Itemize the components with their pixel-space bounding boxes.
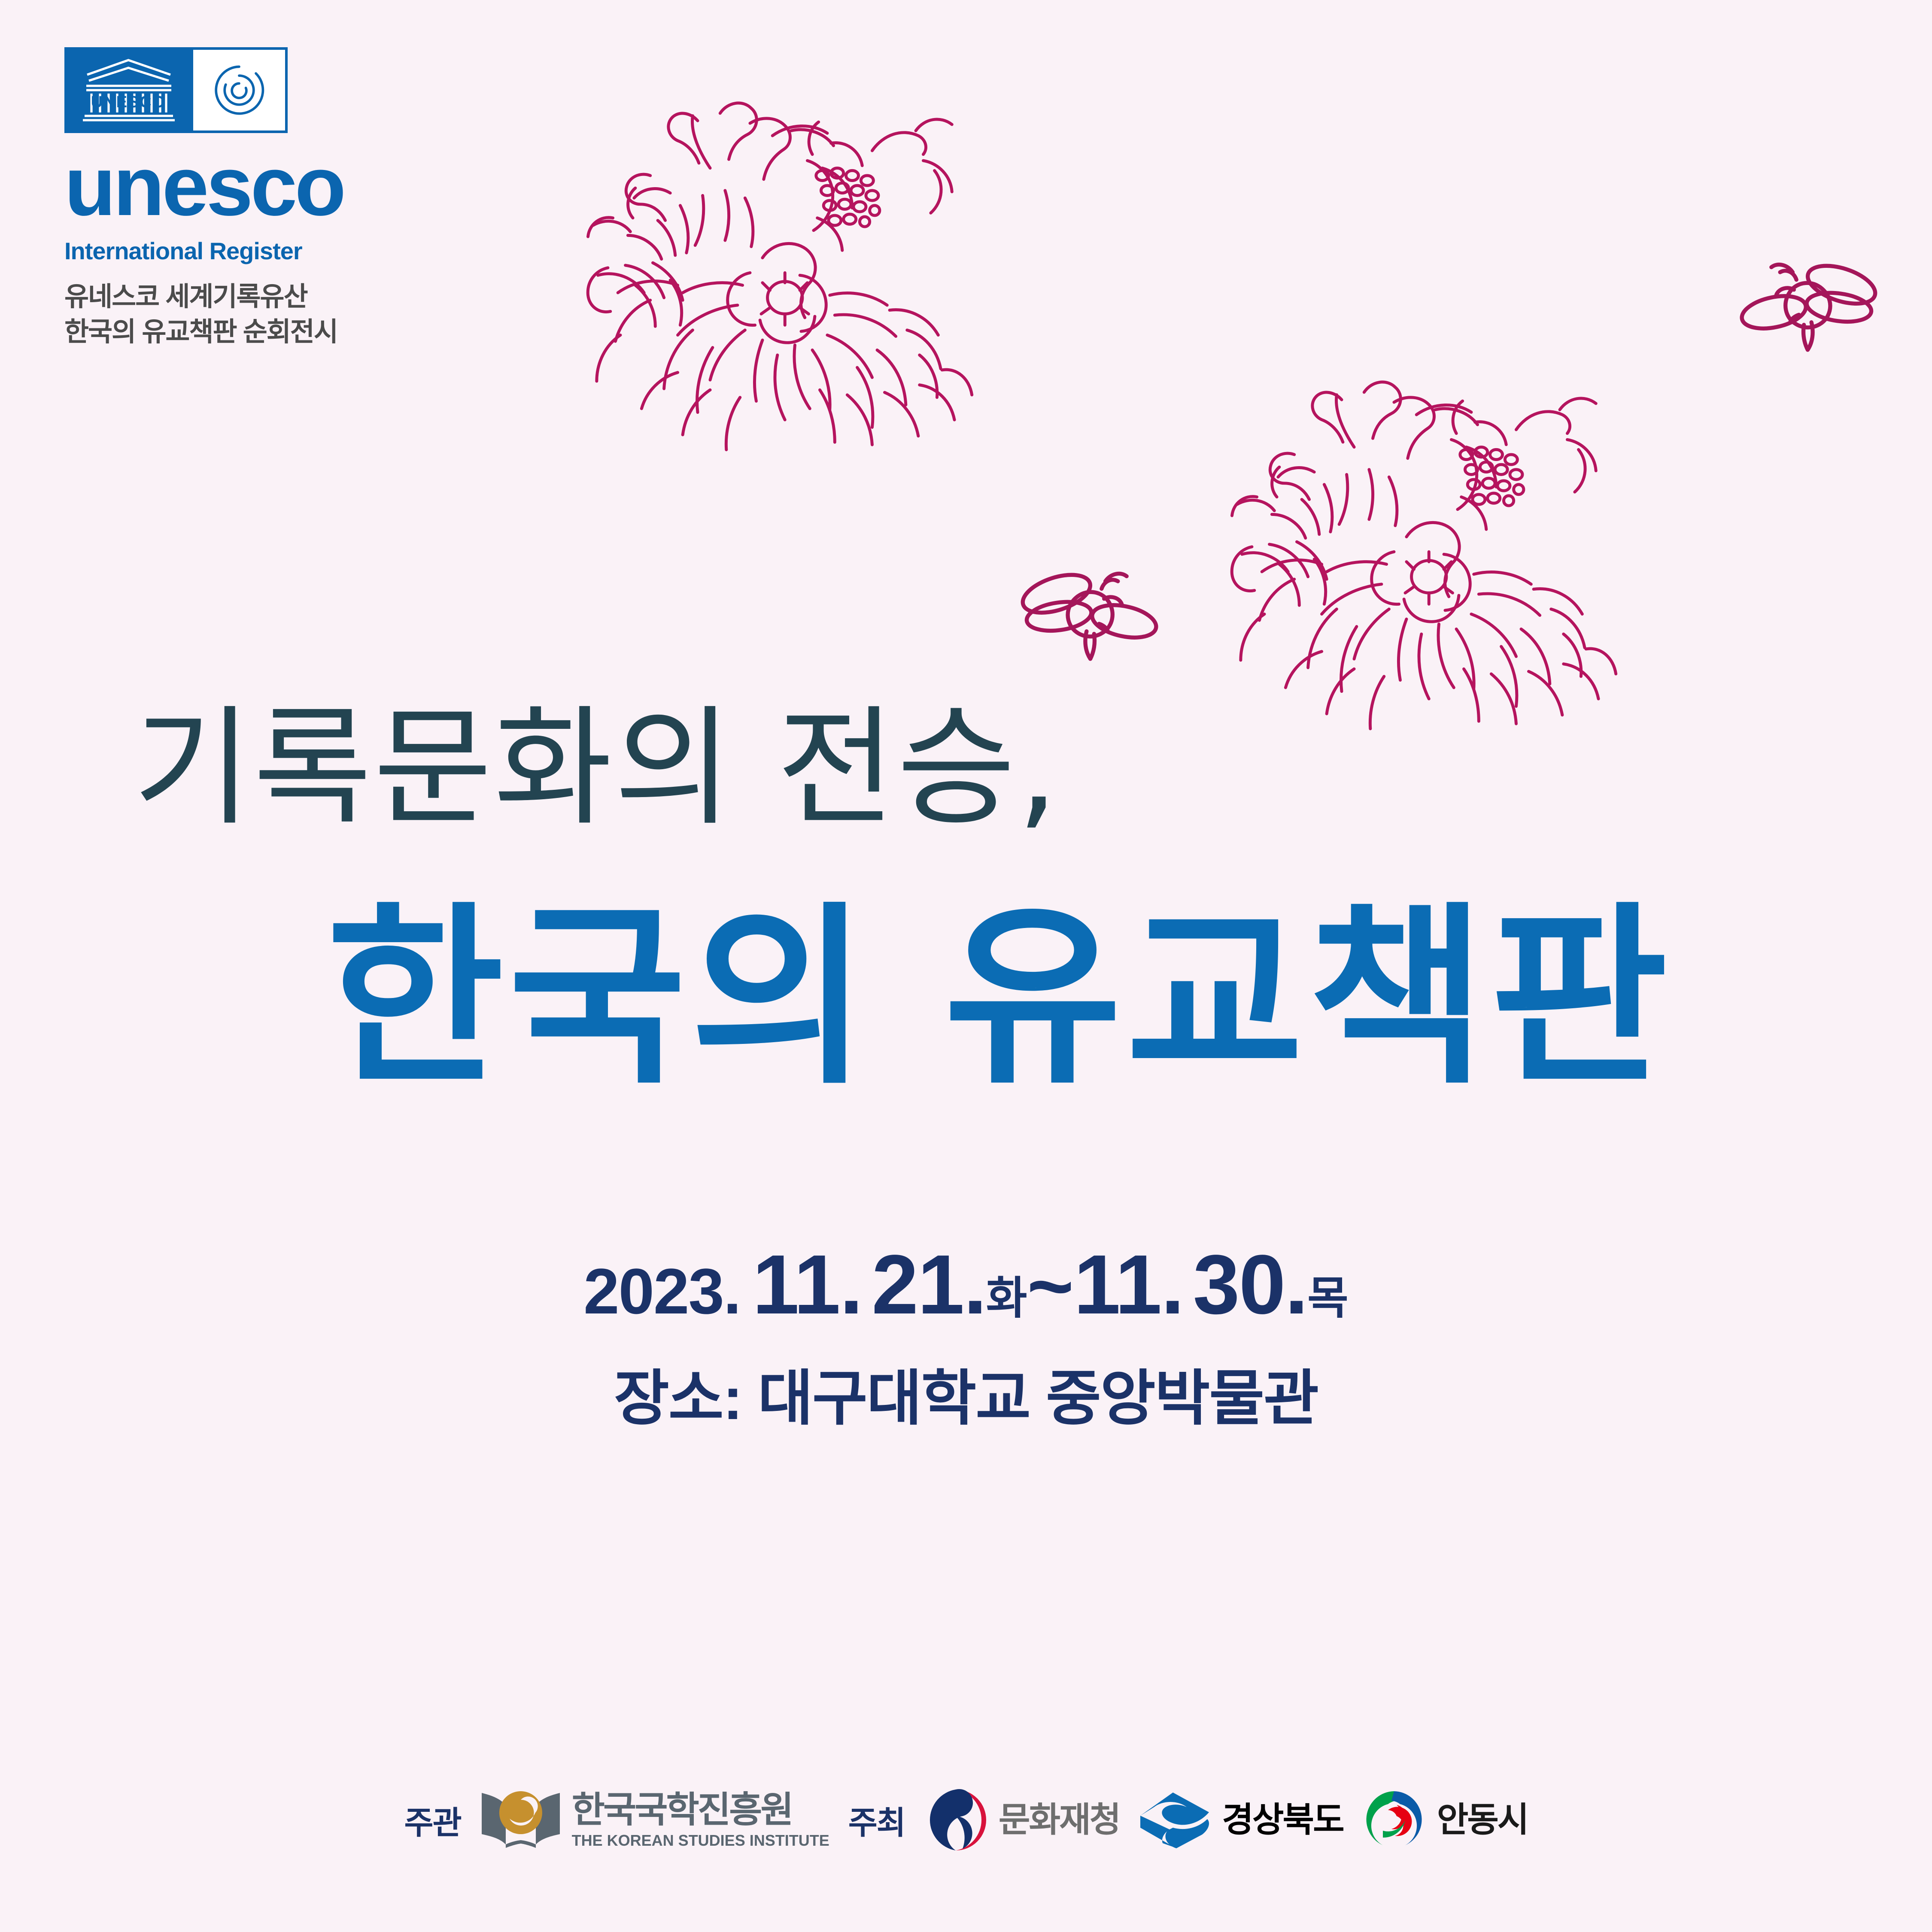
gyeongsangbuk-do-name: 경상북도 bbox=[1222, 1803, 1343, 1837]
org-andong-si: 안동시 bbox=[1362, 1788, 1528, 1852]
pomegranate-floral-line-art bbox=[558, 86, 992, 472]
andong-si-logo bbox=[1362, 1788, 1427, 1852]
unesco-branding-block: UNESCO unesco International Register 유네스… bbox=[64, 47, 494, 350]
unesco-register-label: International Register bbox=[64, 237, 494, 265]
bee-line-art bbox=[1009, 549, 1159, 678]
date-end-month: 11. bbox=[1074, 1237, 1184, 1331]
org-korean-studies-institute: 한국국학진흥원 THE KOREAN STUDIES INSTITUTE bbox=[480, 1788, 829, 1852]
memory-of-the-world-emblem-panel bbox=[193, 47, 288, 133]
date-year: 2023. bbox=[583, 1255, 740, 1327]
date-start-weekday: 화 bbox=[986, 1274, 1027, 1323]
pomegranate-floral-line-art bbox=[1202, 365, 1636, 751]
unesco-temple-emblem-panel: UNESCO bbox=[64, 47, 193, 133]
poster-subtitle: 기록문화의 전승, bbox=[133, 704, 1060, 833]
organizer-label: 주관 bbox=[404, 1797, 461, 1843]
date-start-month: 11. bbox=[753, 1237, 863, 1331]
andong-si-name: 안동시 bbox=[1437, 1803, 1528, 1837]
gyeongsangbuk-do-logo bbox=[1139, 1790, 1212, 1850]
bee-line-art bbox=[1739, 240, 1889, 369]
ksi-name-stack: 한국국학진흥원 THE KOREAN STUDIES INSTITUTE bbox=[572, 1792, 829, 1848]
poster-canvas: UNESCO unesco International Register 유네스… bbox=[0, 0, 1932, 1932]
date-range-separator: ~ bbox=[1027, 1242, 1074, 1331]
unesco-logo-box: UNESCO bbox=[64, 47, 288, 133]
poster-title: 한국의 유교책판 bbox=[326, 901, 1672, 1095]
svg-text:UNESCO: UNESCO bbox=[91, 93, 166, 111]
exhibition-date-line: 2023.11.21.화~11.30.목 bbox=[0, 1236, 1932, 1333]
host-label: 주최 bbox=[848, 1797, 905, 1843]
org-cultural-heritage-administration: 문화재청 bbox=[924, 1788, 1120, 1852]
ksi-name-english: THE KOREAN STUDIES INSTITUTE bbox=[572, 1833, 829, 1848]
memory-of-the-world-spiral-icon bbox=[211, 62, 267, 118]
unesco-temple-icon: UNESCO bbox=[79, 56, 178, 124]
date-start-day: 21. bbox=[872, 1237, 986, 1331]
footer-sponsor-bar: 주관 한국국학진흥원 THE KOREAN STUDIES INSTITUTE … bbox=[0, 1773, 1932, 1867]
exhibition-venue: 장소: 대구대학교 중앙박물관 bbox=[0, 1350, 1932, 1437]
unesco-wordmark: unesco bbox=[64, 144, 494, 228]
unesco-korean-line-2: 한국의 유교책판 순회전시 bbox=[64, 315, 494, 350]
cha-name-korean: 문화재청 bbox=[999, 1803, 1120, 1837]
korean-studies-institute-logo bbox=[480, 1788, 562, 1852]
unesco-korean-line-1: 유네스코 세계기록유산 bbox=[64, 279, 494, 315]
org-gyeongsangbuk-do: 경상북도 bbox=[1139, 1790, 1343, 1850]
ksi-name-korean: 한국국학진흥원 bbox=[572, 1792, 792, 1828]
date-end-day: 30. bbox=[1193, 1237, 1307, 1331]
unesco-korean-subtitle: 유네스코 세계기록유산 한국의 유교책판 순회전시 bbox=[64, 279, 494, 350]
korea-government-taegeuk-logo bbox=[924, 1788, 988, 1852]
date-end-weekday: 목 bbox=[1307, 1274, 1349, 1323]
